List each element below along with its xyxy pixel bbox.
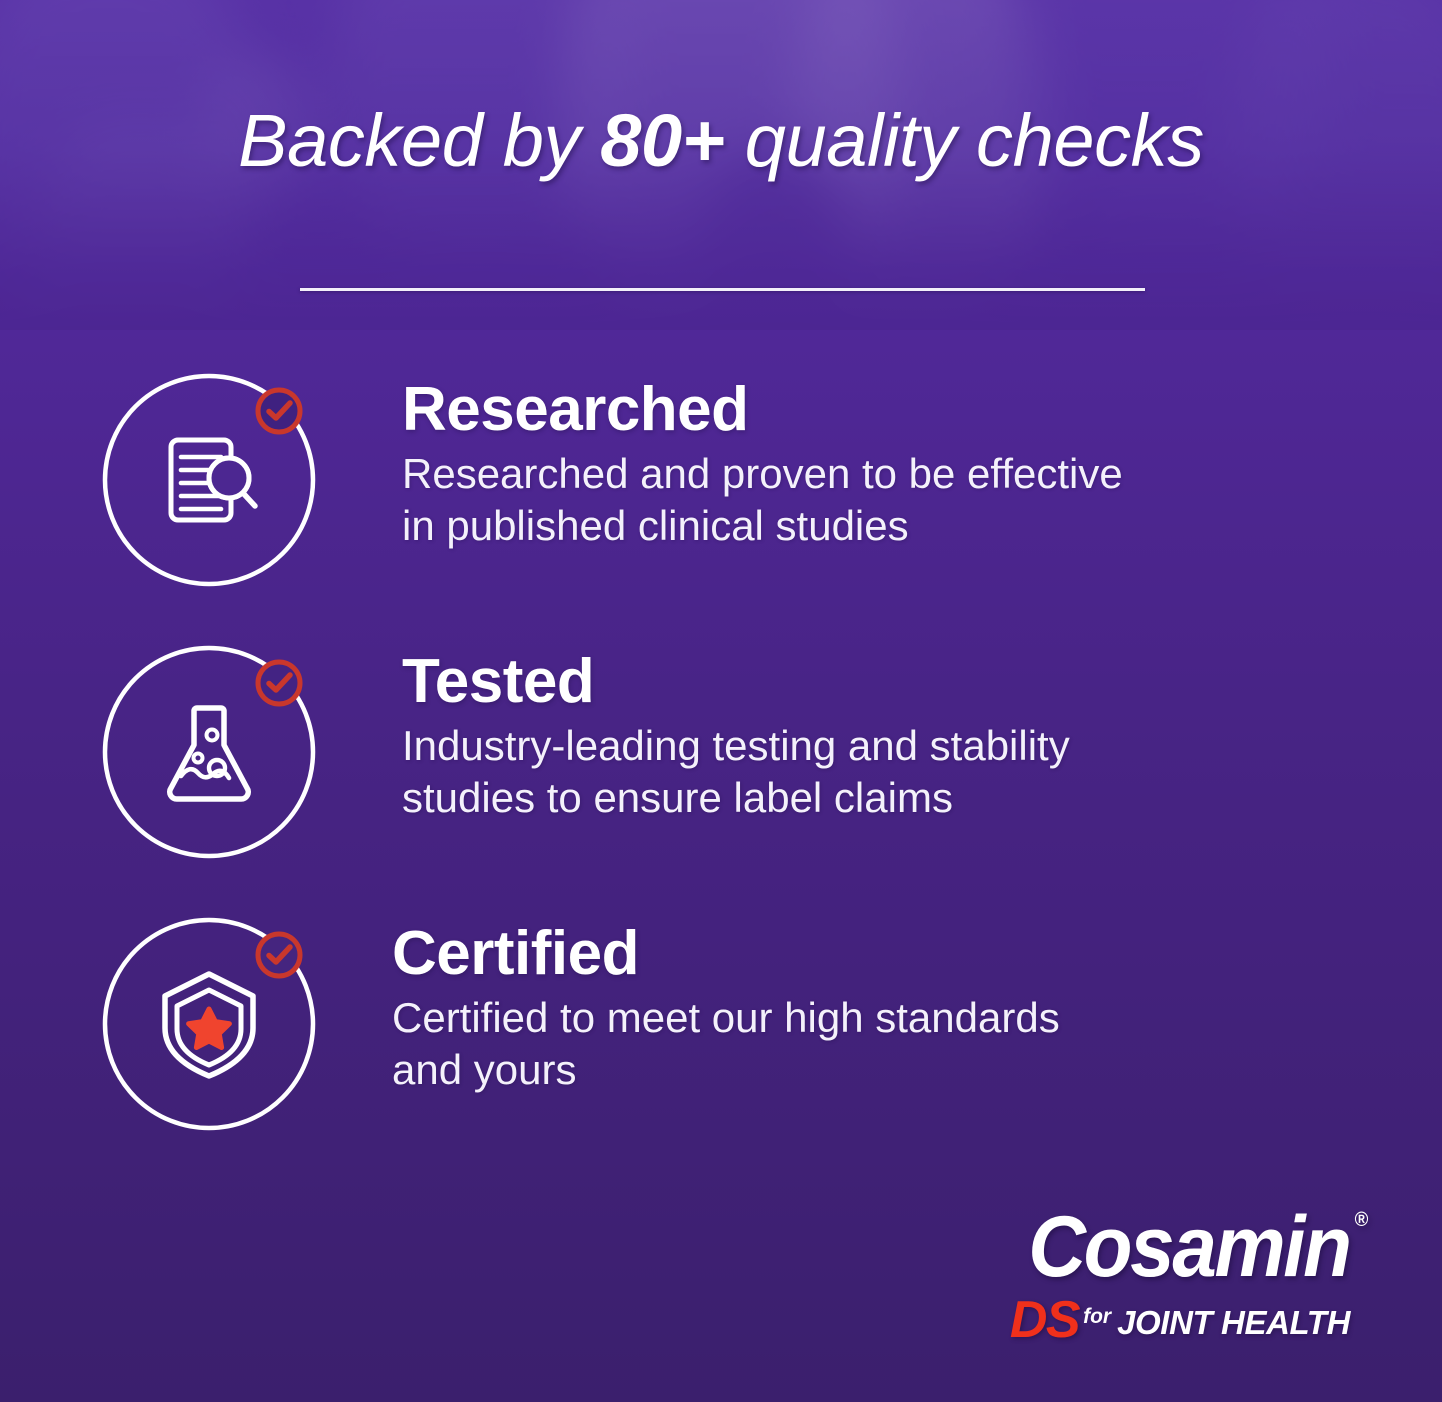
feature-text-tested: Tested Industry-leading testing and stab… [402, 644, 1070, 823]
feature-title: Researched [402, 378, 1123, 442]
icon-certified [101, 916, 317, 1132]
promo-poster: Backed by 80+ quality checks [0, 0, 1442, 1402]
feature-item-certified: Certified Certified to meet our high sta… [0, 916, 1442, 1188]
feature-title: Tested [402, 650, 1070, 714]
feature-desc-line1: Certified to meet our high standards [392, 994, 1060, 1041]
brand-name-text: Cosamin [1028, 1199, 1350, 1295]
feature-item-researched: Researched Researched and proven to be e… [0, 372, 1442, 644]
feature-desc-line1: Industry-leading testing and stability [402, 722, 1070, 769]
feature-desc-line1: Researched and proven to be effective [402, 450, 1123, 497]
feature-text-researched: Researched Researched and proven to be e… [402, 372, 1123, 551]
document-magnifier-icon [155, 426, 263, 534]
headline-prefix: Backed by [238, 99, 600, 182]
brand-variant: DS [1010, 1294, 1079, 1346]
headline-emphasis: 80+ [600, 99, 724, 182]
feature-title: Certified [392, 922, 1060, 986]
feature-list: Researched Researched and proven to be e… [0, 372, 1442, 1188]
brand-connector: for [1083, 1306, 1111, 1327]
feature-description: Industry-leading testing and stability s… [402, 720, 1070, 822]
feature-item-tested: Tested Industry-leading testing and stab… [0, 644, 1442, 916]
brand-logo: Cosamin® DS for JOINT HEALTH [1004, 1204, 1350, 1346]
brand-name: Cosamin® [1028, 1204, 1350, 1290]
red-check-badge-icon [253, 385, 305, 437]
feature-desc-line2: studies to ensure label claims [402, 772, 1070, 823]
feature-desc-line2: in published clinical studies [402, 500, 1123, 551]
flask-icon [159, 698, 259, 806]
red-check-badge-icon [253, 929, 305, 981]
red-check-badge-icon [253, 657, 305, 709]
brand-subline: DS for JOINT HEALTH [1004, 1294, 1350, 1346]
feature-desc-line2: and yours [392, 1044, 1060, 1095]
feature-description: Certified to meet our high standards and… [392, 992, 1060, 1094]
headline: Backed by 80+ quality checks [0, 103, 1442, 178]
icon-tested [101, 644, 317, 860]
feature-description: Researched and proven to be effective in… [402, 448, 1123, 550]
registered-trademark-icon: ® [1355, 1210, 1369, 1230]
headline-suffix: quality checks [725, 99, 1204, 182]
brand-tagline: JOINT HEALTH [1117, 1306, 1350, 1339]
icon-researched [101, 372, 317, 588]
feature-text-certified: Certified Certified to meet our high sta… [392, 916, 1060, 1095]
divider-rule [300, 288, 1145, 291]
shield-star-icon [157, 966, 261, 1082]
